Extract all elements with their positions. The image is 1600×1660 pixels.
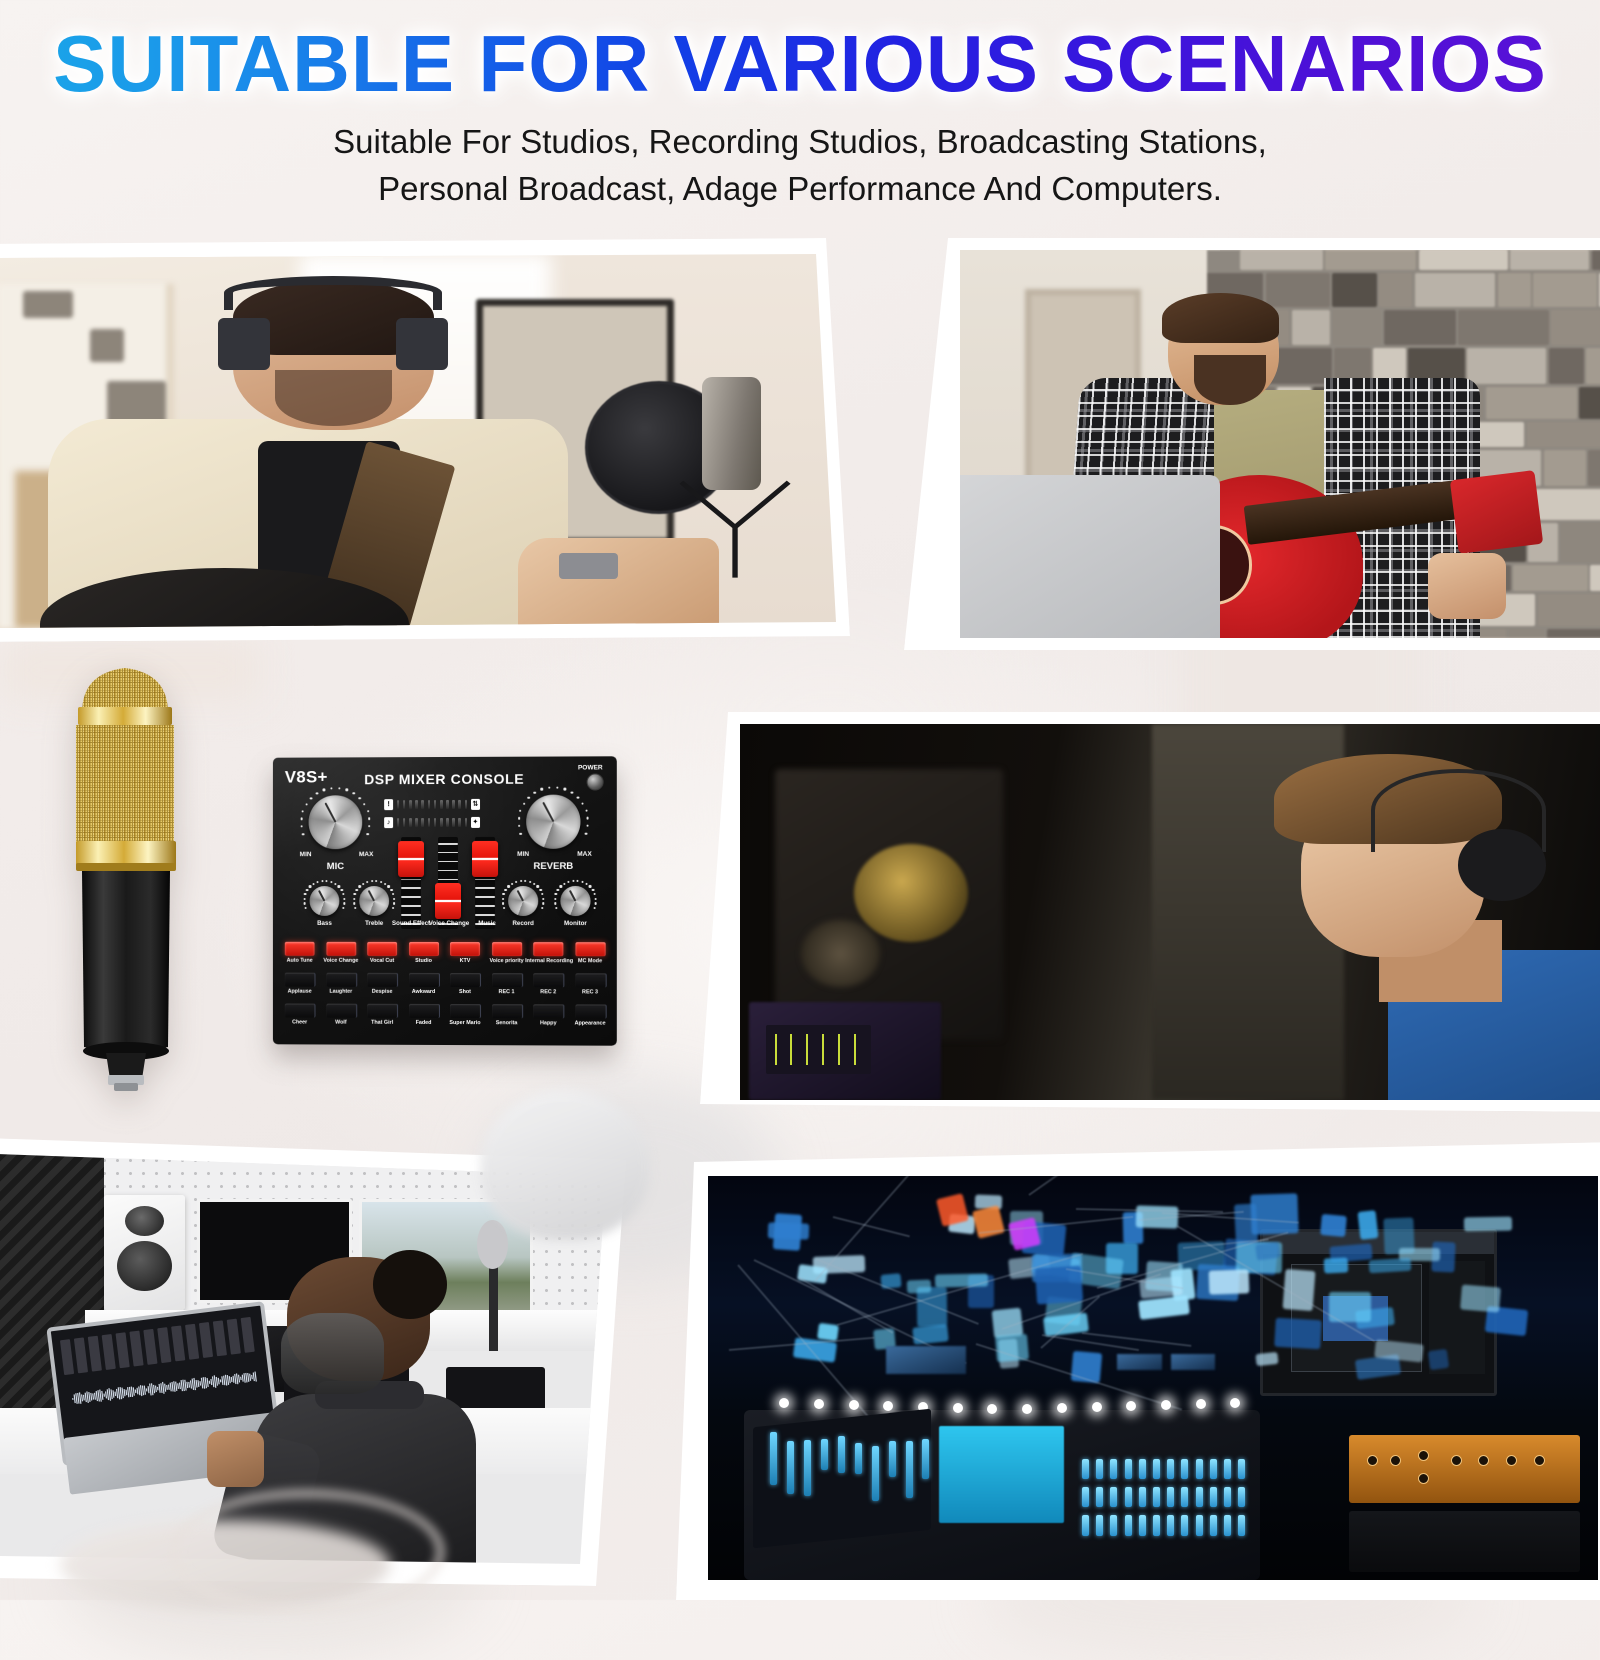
- mixer-button-vocal-cut[interactable]: [367, 942, 397, 956]
- reverb-knob-label: REVERB: [522, 861, 584, 872]
- mixer-button-faded[interactable]: [409, 1004, 440, 1018]
- panel-studio-guitarist-headphones: [0, 238, 850, 642]
- mixer-button-ktv[interactable]: [450, 942, 480, 956]
- mixer-button-label: That Girl: [359, 1020, 405, 1026]
- mixer-button-label: Super Mario: [442, 1020, 488, 1026]
- mixer-button-label: Laughter: [318, 989, 364, 995]
- mixer-button-mc-mode[interactable]: [575, 942, 605, 956]
- dsp-mixer-console[interactable]: V8S+ DSP MIXER CONSOLE POWER MIN MAX MIC…: [273, 756, 617, 1045]
- mixer-button-label: Faded: [401, 1020, 447, 1026]
- voice-change-fader[interactable]: [435, 883, 461, 919]
- mixer-button-grid: Auto TuneVoice ChangeVocal CutStudioKTVV…: [273, 756, 617, 757]
- mixer-button-label: Voice Change: [318, 958, 364, 964]
- mixer-button-label: Shot: [442, 989, 488, 995]
- mixer-button-label: Internal Recording: [525, 958, 571, 964]
- panel-home-studio-desk: [0, 1138, 654, 1586]
- photo-live-sound-console: [708, 1176, 1598, 1580]
- mixer-button-that-girl[interactable]: [367, 1004, 398, 1018]
- record-knob[interactable]: [508, 886, 538, 916]
- mixer-button-label: Awkward: [401, 989, 447, 995]
- mixer-button-super-mario[interactable]: [450, 1004, 481, 1018]
- mixer-button-label: KTV: [442, 958, 488, 964]
- power-label: POWER: [578, 764, 603, 771]
- photo-red-guitar-laptop: [960, 250, 1600, 638]
- voice-change-fader-label: Voice Change: [428, 920, 470, 927]
- mixer-button-label: Auto Tune: [277, 958, 323, 964]
- mic-shockmount-icon: [668, 471, 802, 583]
- mixer-button-label: Happy: [525, 1020, 571, 1026]
- mixer-button-voice-priority[interactable]: [492, 942, 522, 956]
- mixer-button-appearance[interactable]: [575, 1004, 606, 1018]
- bass-knob[interactable]: [310, 886, 340, 916]
- monitor-knob-label: Monitor: [552, 920, 598, 927]
- panel-live-sound-console: [676, 1142, 1600, 1600]
- mixer-button-cheer[interactable]: [285, 1004, 316, 1018]
- mixer-button-studio[interactable]: [409, 942, 439, 956]
- subtitle-line-1: Suitable For Studios, Recording Studios,…: [0, 119, 1600, 166]
- record-knob-label: Record: [500, 920, 546, 927]
- led-meter-row-1: ! ⇅: [384, 799, 480, 810]
- page-subtitle: Suitable For Studios, Recording Studios,…: [0, 119, 1600, 213]
- mixer-button-rec-2[interactable]: [533, 973, 564, 987]
- mic-knob-max-label: MAX: [354, 851, 378, 858]
- reverb-knob[interactable]: [526, 795, 580, 849]
- condenser-microphone: [60, 655, 240, 1100]
- sound-effect-fader[interactable]: [398, 841, 424, 877]
- treble-knob[interactable]: [359, 886, 389, 916]
- reverb-knob-min-label: MIN: [512, 851, 534, 858]
- mixer-button-label: Senorita: [484, 1020, 530, 1026]
- mixer-button-rec-1[interactable]: [492, 973, 523, 987]
- music-fader[interactable]: [472, 841, 498, 877]
- mic-icon: !: [384, 799, 393, 810]
- mixer-button-wolf[interactable]: [326, 1004, 357, 1018]
- photo-home-studio-desk: [0, 1154, 620, 1564]
- mixer-button-label: Appearance: [567, 1020, 613, 1026]
- mixer-button-label: MC Mode: [567, 958, 613, 964]
- bluetooth-icon: ✦: [471, 817, 480, 828]
- music-note-icon: ♪: [384, 817, 393, 828]
- mixer-button-label: REC 2: [525, 989, 571, 995]
- mixer-button-happy[interactable]: [533, 1004, 564, 1018]
- mixer-button-voice-change[interactable]: [326, 942, 356, 956]
- mixer-button-laughter[interactable]: [326, 973, 357, 987]
- reverb-knob-max-label: MAX: [572, 851, 596, 858]
- mic-knob-min-label: MIN: [295, 851, 317, 858]
- mic-knob[interactable]: [309, 795, 363, 849]
- mixer-button-applause[interactable]: [285, 973, 316, 987]
- mixer-button-label: Studio: [401, 958, 447, 964]
- led-meter-row-2: ♪ ✦: [384, 817, 480, 828]
- mixer-button-label: REC 3: [567, 989, 613, 995]
- mixer-button-shot[interactable]: [450, 973, 481, 987]
- header: SUITABLE FOR VARIOUS SCENARIOS Suitable …: [0, 0, 1600, 213]
- photo-studio-guitarist-headphones: [0, 254, 836, 628]
- monitor-knob[interactable]: [560, 886, 590, 916]
- mixer-button-label: REC 1: [484, 989, 530, 995]
- mic-knob-label: MIC: [311, 861, 361, 872]
- mixer-button-awkward[interactable]: [409, 973, 440, 987]
- panel-red-guitar-laptop: [904, 238, 1600, 650]
- mixer-button-despise[interactable]: [367, 973, 398, 987]
- subtitle-line-2: Personal Broadcast, Adage Performance An…: [0, 166, 1600, 213]
- mixer-button-label: Applause: [277, 989, 323, 995]
- mixer-button-label: Cheer: [277, 1019, 323, 1025]
- mixer-button-label: Despise: [359, 989, 405, 995]
- sound-effect-fader-label: Sound Effect: [390, 920, 432, 927]
- mixer-title-label: DSP MIXER CONSOLE: [273, 770, 617, 787]
- mixer-button-senorita[interactable]: [492, 1004, 523, 1018]
- mixer-button-internal-recording[interactable]: [533, 942, 563, 956]
- mixer-button-label: Wolf: [318, 1020, 364, 1026]
- photo-dark-studio-headphones: [740, 724, 1600, 1100]
- page-title: SUITABLE FOR VARIOUS SCENARIOS: [0, 0, 1600, 103]
- mixer-button-auto-tune[interactable]: [285, 942, 315, 956]
- power-button[interactable]: [587, 773, 604, 790]
- bass-knob-label: Bass: [302, 920, 348, 927]
- panel-dark-studio-headphones: [700, 712, 1600, 1112]
- audio-waveform-icon: [70, 1364, 258, 1410]
- mixer-button-label: Voice priority: [484, 958, 530, 964]
- mixer-button-label: Vocal Cut: [359, 958, 405, 964]
- mixer-button-rec-3[interactable]: [575, 973, 606, 987]
- usb-icon: ⇅: [471, 799, 480, 810]
